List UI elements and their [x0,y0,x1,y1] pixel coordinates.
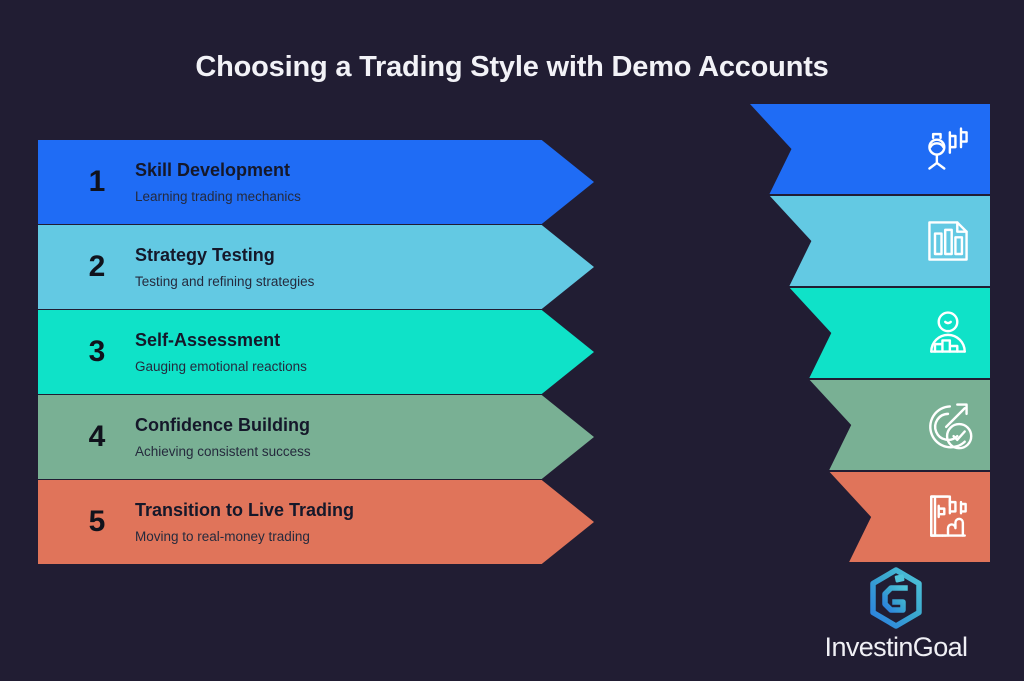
funnel-band[interactable] [750,104,990,194]
step-title: Self-Assessment [135,330,307,350]
step-arrow-shape [38,395,594,479]
step-title: Strategy Testing [135,245,314,265]
funnel-band[interactable] [830,472,990,562]
step-text-block: Skill DevelopmentLearning trading mechan… [135,140,301,224]
step-subtitle: Testing and refining strategies [135,274,314,289]
step-text-block: Transition to Live TradingMoving to real… [135,480,354,564]
step-title: Transition to Live Trading [135,500,354,520]
step-arrow-shape [38,310,594,394]
step-row[interactable]: 1Skill DevelopmentLearning trading mecha… [38,140,598,224]
brand-name: InvestinGoal [806,631,986,663]
funnel-band[interactable] [770,196,990,286]
funnel-graphic [742,104,990,566]
step-row[interactable]: 5Transition to Live TradingMoving to rea… [38,480,598,564]
step-number: 3 [74,310,120,394]
step-subtitle: Learning trading mechanics [135,189,301,204]
funnel-panel [742,104,990,566]
step-arrow-shape [38,140,594,224]
step-row[interactable]: 4Confidence BuildingAchieving consistent… [38,395,598,479]
page-title: Choosing a Trading Style with Demo Accou… [0,48,1024,86]
step-row[interactable]: 2Strategy TestingTesting and refining st… [38,225,598,309]
step-text-block: Strategy TestingTesting and refining str… [135,225,314,309]
step-number: 2 [74,225,120,309]
funnel-band[interactable] [810,380,990,470]
step-number: 5 [74,480,120,564]
step-subtitle: Gauging emotional reactions [135,359,307,374]
step-text-block: Confidence BuildingAchieving consistent … [135,395,311,479]
funnel-band[interactable] [790,288,990,378]
step-title: Skill Development [135,160,301,180]
hexagon-g-logo-icon [865,567,927,629]
step-subtitle: Achieving consistent success [135,444,311,459]
step-number: 1 [74,140,120,224]
brand-logo: InvestinGoal [806,567,986,663]
step-arrow-shape [38,225,594,309]
infographic-canvas: Choosing a Trading Style with Demo Accou… [0,0,1024,681]
step-title: Confidence Building [135,415,311,435]
step-number: 4 [74,395,120,479]
steps-list: 1Skill DevelopmentLearning trading mecha… [38,140,598,565]
step-text-block: Self-AssessmentGauging emotional reactio… [135,310,307,394]
step-row[interactable]: 3Self-AssessmentGauging emotional reacti… [38,310,598,394]
step-subtitle: Moving to real-money trading [135,529,354,544]
